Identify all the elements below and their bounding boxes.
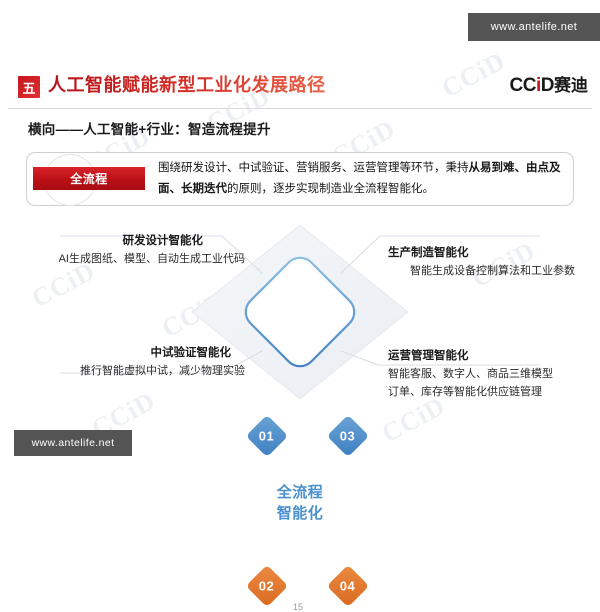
step-badge-02-label: 02 bbox=[259, 579, 274, 594]
step-badge-04-label: 04 bbox=[340, 579, 355, 594]
step-item-02: 中试验证智能化 推行智能虚拟中试，减少物理实验 bbox=[40, 345, 245, 380]
step-item-04: 运营管理智能化 智能客服、数字人、商品三维模型 订单、库存等智能化供应链管理 bbox=[388, 348, 598, 401]
step-badge-01[interactable]: 01 bbox=[246, 415, 288, 457]
slide-header: 五 人工智能赋能新型工业化发展路径 CCiD赛迪 bbox=[0, 72, 600, 108]
step-item-04-title: 运营管理智能化 bbox=[388, 348, 598, 365]
callout-tag: 全流程 bbox=[33, 167, 145, 190]
watermark-top: www.antelife.net bbox=[468, 13, 600, 41]
step-badge-04[interactable]: 04 bbox=[327, 565, 369, 607]
ccid-logo: CCiD赛迪 bbox=[510, 71, 588, 97]
step-badge-02[interactable]: 02 bbox=[246, 565, 288, 607]
step-item-01-title: 研发设计智能化 bbox=[40, 233, 245, 250]
page-title: 人工智能赋能新型工业化发展路径 bbox=[48, 72, 326, 98]
step-badge-01-label: 01 bbox=[259, 429, 274, 444]
logo-d: D bbox=[541, 75, 554, 96]
header-divider bbox=[8, 108, 592, 109]
step-item-03-title: 生产制造智能化 bbox=[388, 245, 598, 262]
step-item-03: 生产制造智能化 智能生成设备控制算法和工业参数 bbox=[388, 245, 598, 280]
diagram-center-label: 全流程 智能化 bbox=[255, 482, 345, 524]
callout-text-part2: 的原则，逐步实现制造业全流程智能化。 bbox=[227, 183, 434, 195]
center-label-line2: 智能化 bbox=[255, 503, 345, 524]
step-item-02-desc: 推行智能虚拟中试，减少物理实验 bbox=[40, 362, 245, 380]
step-badge-03[interactable]: 03 bbox=[327, 415, 369, 457]
subtitle: 横向——人工智能+行业：智造流程提升 bbox=[28, 118, 271, 138]
step-badge-03-label: 03 bbox=[340, 429, 355, 444]
step-item-04-desc-1: 智能客服、数字人、商品三维模型 bbox=[388, 365, 598, 383]
section-number-badge: 五 bbox=[18, 76, 40, 98]
step-item-03-desc: 智能生成设备控制算法和工业参数 bbox=[388, 262, 598, 280]
logo-cn: 赛迪 bbox=[554, 76, 588, 95]
callout-text: 围绕研发设计、中试验证、营销服务、运营管理等环节，秉持从易到难、由点及面、长期迭… bbox=[158, 158, 562, 200]
step-item-04-desc-2: 订单、库存等智能化供应链管理 bbox=[388, 383, 598, 401]
watermark-bottom: www.antelife.net bbox=[14, 430, 132, 456]
center-label-line1: 全流程 bbox=[255, 482, 345, 503]
step-item-01-desc: AI生成图纸、模型、自动生成工业代码 bbox=[40, 250, 245, 268]
page-number: 15 bbox=[293, 602, 303, 612]
logo-cc: CC bbox=[510, 75, 536, 96]
slide-canvas: 五 人工智能赋能新型工业化发展路径 CCiD赛迪 横向——人工智能+行业：智造流… bbox=[0, 0, 600, 480]
step-item-01: 研发设计智能化 AI生成图纸、模型、自动生成工业代码 bbox=[40, 233, 245, 268]
callout-text-part1: 围绕研发设计、中试验证、营销服务、运营管理等环节，秉持 bbox=[158, 162, 469, 174]
step-item-02-title: 中试验证智能化 bbox=[40, 345, 245, 362]
